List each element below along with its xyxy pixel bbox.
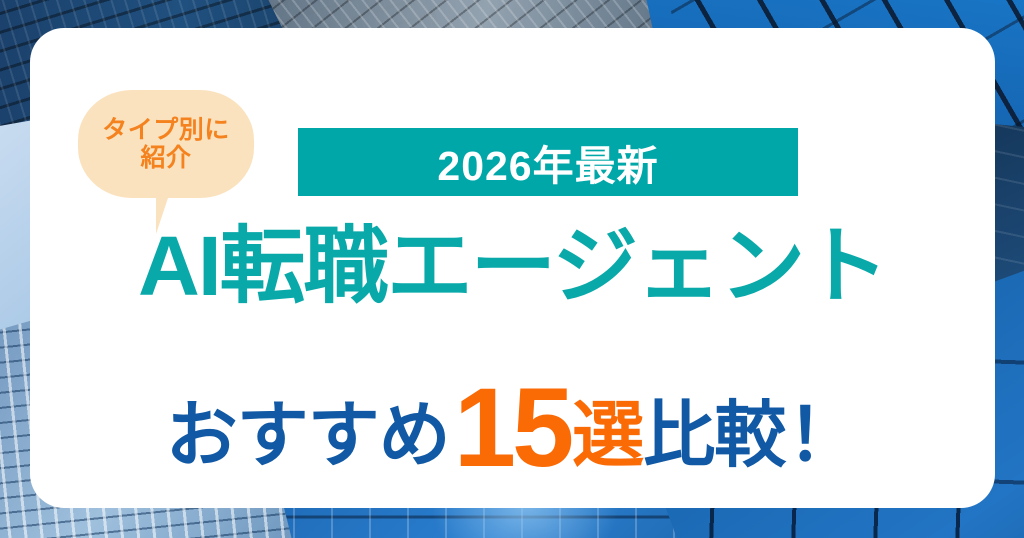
content-card: タイプ別に 紹介 2026年最新 AI転職エージェント おすすめ 15 選 比較… <box>30 28 995 508</box>
promo-banner-canvas: タイプ別に 紹介 2026年最新 AI転職エージェント おすすめ 15 選 比較… <box>0 0 1024 538</box>
year-banner-label: 2026年最新 <box>437 132 658 192</box>
subtitle: おすすめ 15 選 比較 ！ <box>30 366 995 478</box>
subtitle-suffix: 比較 <box>643 400 785 472</box>
subtitle-counter: 選 <box>572 400 643 472</box>
speech-bubble-line-2: 紹介 <box>140 144 191 172</box>
page-title: AI転職エージェント <box>20 224 1004 308</box>
subtitle-exclamation: ！ <box>787 400 859 472</box>
subtitle-count: 15 <box>454 372 571 484</box>
speech-bubble-line-1: タイプ別に <box>102 116 230 144</box>
year-banner: 2026年最新 <box>298 128 798 196</box>
subtitle-prefix: おすすめ <box>166 400 450 472</box>
